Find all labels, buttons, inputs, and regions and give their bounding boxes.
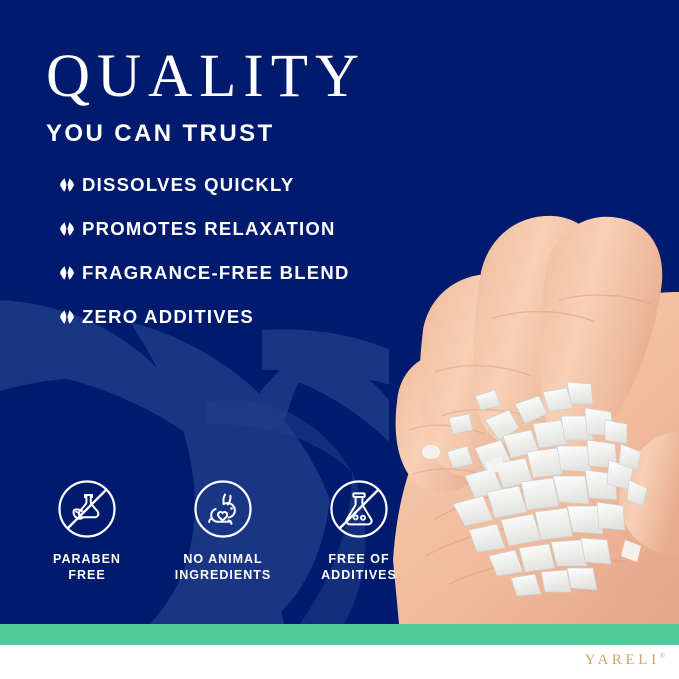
page-subtitle: YOU CAN TRUST — [46, 120, 376, 148]
main-panel: QUALITY YOU CAN TRUST DISSOLVES QUICKLY — [0, 0, 679, 624]
droplet-pair-icon — [57, 219, 77, 239]
no-paraben-flask-icon — [56, 478, 118, 540]
product-infographic: QUALITY YOU CAN TRUST DISSOLVES QUICKLY — [0, 0, 679, 679]
feature-label: PROMOTES RELAXATION — [82, 218, 336, 240]
product-photo — [389, 0, 679, 624]
feature-item: DISSOLVES QUICKLY — [57, 163, 397, 207]
badge-free-of-additives: FREE OF ADDITIVES — [300, 478, 418, 583]
badge-label: PARABEN FREE — [53, 551, 121, 583]
feature-label: ZERO ADDITIVES — [82, 306, 254, 328]
certification-badges: PARABEN FREE NO ANIM — [28, 478, 418, 583]
feature-item: ZERO ADDITIVES — [57, 295, 397, 339]
feature-label: FRAGRANCE-FREE BLEND — [82, 262, 350, 284]
no-additives-flask-icon — [328, 478, 390, 540]
droplet-pair-icon — [57, 263, 77, 283]
hand-holding-flakes-illustration — [389, 0, 679, 624]
badge-label: FREE OF ADDITIVES — [321, 551, 397, 583]
cruelty-free-rabbit-icon — [192, 478, 254, 540]
feature-list: DISSOLVES QUICKLY PROMOTES RELAXATION — [57, 163, 397, 339]
brand-name: YARELI — [585, 652, 660, 668]
registered-trademark-symbol: ® — [660, 652, 665, 660]
feature-item: FRAGRANCE-FREE BLEND — [57, 251, 397, 295]
footer-bar: YARELI® — [0, 645, 679, 679]
page-title: QUALITY — [46, 48, 376, 106]
brand-wordmark: YARELI® — [585, 652, 665, 669]
badge-paraben-free: PARABEN FREE — [28, 478, 146, 583]
feature-label: DISSOLVES QUICKLY — [82, 174, 294, 196]
feature-item: PROMOTES RELAXATION — [57, 207, 397, 251]
droplet-pair-icon — [57, 307, 77, 327]
badge-no-animal-ingredients: NO ANIMAL INGREDIENTS — [164, 478, 282, 583]
headline-block: QUALITY YOU CAN TRUST — [46, 48, 376, 148]
badge-label: NO ANIMAL INGREDIENTS — [175, 551, 271, 583]
teal-divider-bar — [0, 624, 679, 645]
droplet-pair-icon — [57, 175, 77, 195]
